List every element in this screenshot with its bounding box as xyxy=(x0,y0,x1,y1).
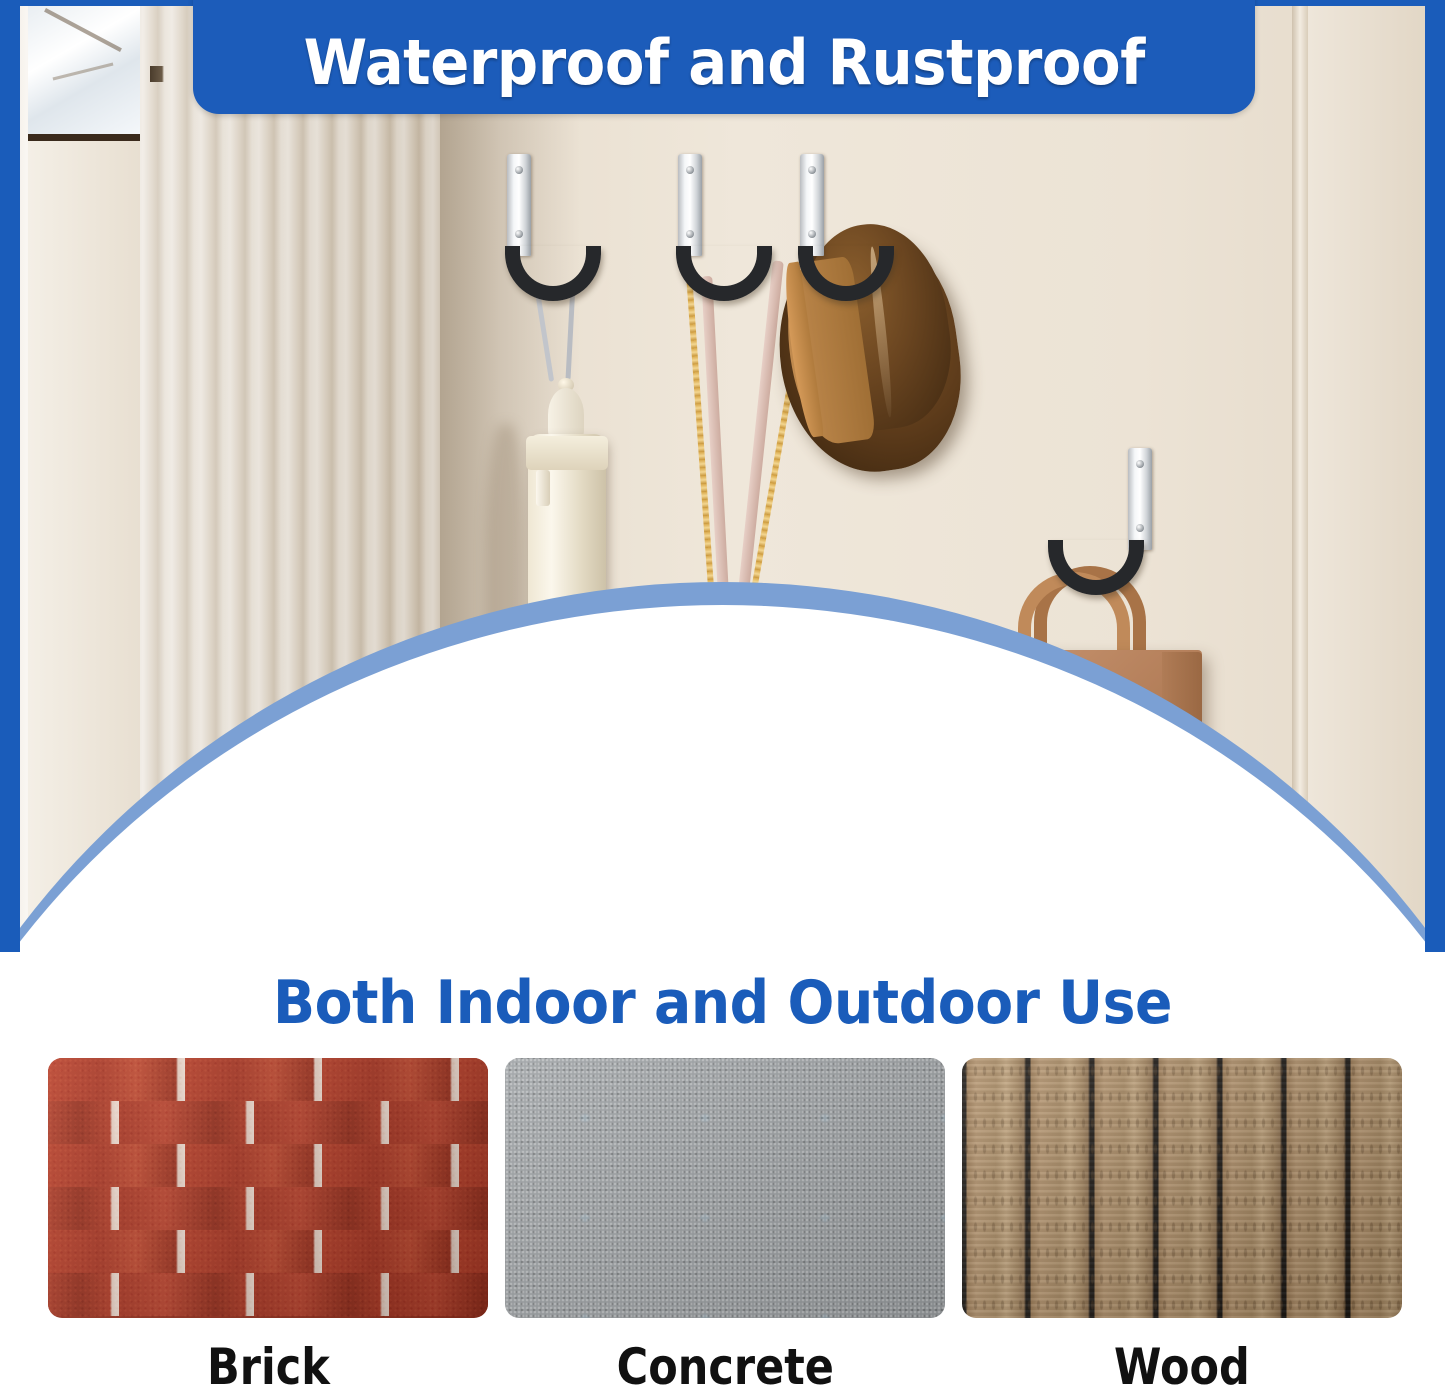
materials-section: Both Indoor and Outdoor Use Brick xyxy=(0,930,1445,1392)
right-wall-panel xyxy=(1308,6,1425,952)
banner-title: Waterproof and Rustproof xyxy=(303,32,1144,114)
screw-hole-icon xyxy=(1136,524,1144,532)
screw-hole-icon xyxy=(515,166,523,174)
material-label-concrete: Concrete xyxy=(616,1342,833,1392)
screw-hole-icon xyxy=(1136,460,1144,468)
material-label-wood: Wood xyxy=(1114,1342,1250,1392)
framed-wall-picture xyxy=(28,6,140,141)
photo-frame-right-border xyxy=(1425,0,1445,952)
hero-photo-section: E xyxy=(0,0,1445,952)
product-infographic: E xyxy=(0,0,1445,1392)
wood-texture-icon xyxy=(962,1058,1402,1318)
hook-mounting-plate xyxy=(507,154,531,256)
screw-hole-icon xyxy=(515,230,523,238)
material-card-brick: Brick xyxy=(48,1058,488,1392)
material-card-wood: Wood xyxy=(962,1058,1402,1392)
material-swatch-row: Brick Concrete Wood xyxy=(0,1058,1445,1388)
screw-hole-icon xyxy=(808,230,816,238)
screw-hole-icon xyxy=(808,166,816,174)
section-subtitle: Both Indoor and Outdoor Use xyxy=(58,968,1387,1038)
umbrella-clip xyxy=(536,470,550,506)
hook-mounting-plate xyxy=(678,154,702,256)
umbrella-strap-band xyxy=(526,436,608,470)
concrete-texture-icon xyxy=(505,1058,945,1318)
hook-mounting-plate xyxy=(1128,448,1152,550)
material-label-brick: Brick xyxy=(207,1342,330,1392)
screw-hole-icon xyxy=(686,166,694,174)
screw-hole-icon xyxy=(686,230,694,238)
hook-mounting-plate xyxy=(800,154,824,256)
brick-texture-icon xyxy=(48,1058,488,1318)
photo-frame-left-border xyxy=(0,0,20,952)
material-card-concrete: Concrete xyxy=(505,1058,945,1392)
top-banner: Waterproof and Rustproof xyxy=(193,0,1255,114)
